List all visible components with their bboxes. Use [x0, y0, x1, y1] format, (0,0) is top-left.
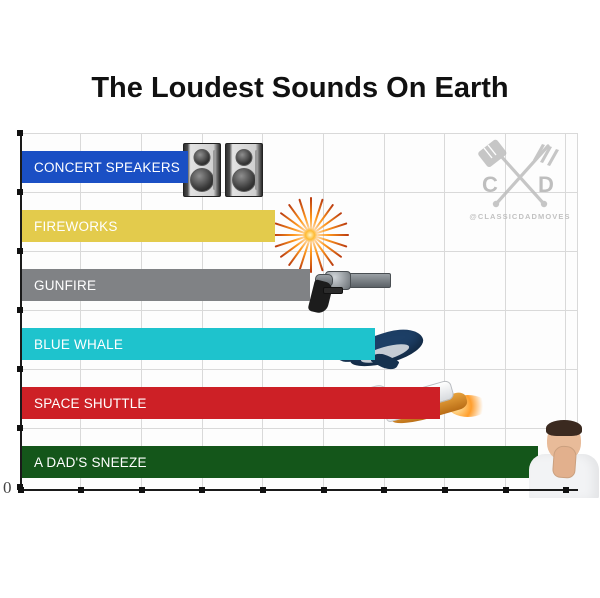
bar-label-blue-whale: BLUE WHALE: [20, 337, 123, 352]
x-axis-origin-label: 0: [3, 478, 12, 498]
x-axis: [20, 489, 578, 491]
x-axis-tick-7: [442, 487, 448, 493]
spatula-fork-crossed-icon: [460, 138, 580, 212]
chart-page: The Loudest Sounds On Earth: [0, 0, 600, 598]
x-axis-tick-3: [199, 487, 205, 493]
bar-space-shuttle[interactable]: SPACE SHUTTLE: [20, 387, 440, 419]
sneezing-man-icon: [527, 418, 600, 498]
x-axis-tick-5: [321, 487, 327, 493]
x-axis-tick-4: [260, 487, 266, 493]
bar-label-concert-speakers: CONCERT SPEAKERS: [20, 160, 180, 175]
bar-fireworks[interactable]: FIREWORKS: [20, 210, 275, 242]
bar-label-fireworks: FIREWORKS: [20, 219, 118, 234]
x-axis-tick-9: [563, 487, 569, 493]
plot-top-border: [20, 133, 578, 134]
bar-blue-whale[interactable]: BLUE WHALE: [20, 328, 375, 360]
bar-dads-sneeze[interactable]: A DAD'S SNEEZE: [20, 446, 538, 478]
y-axis-tick-2: [17, 248, 23, 254]
y-axis-tick-0: [17, 130, 23, 136]
gridline-h-4: [20, 369, 578, 370]
bar-label-dads-sneeze: A DAD'S SNEEZE: [20, 455, 147, 470]
y-axis-tick-4: [17, 366, 23, 372]
concert-speakers-icon: [183, 141, 265, 197]
gridline-h-5: [20, 428, 578, 429]
bar-label-gunfire: GUNFIRE: [20, 278, 96, 293]
x-axis-tick-1: [78, 487, 84, 493]
firework-icon: [268, 193, 352, 277]
x-axis-tick-2: [139, 487, 145, 493]
bar-label-space-shuttle: SPACE SHUTTLE: [20, 396, 147, 411]
gridline-h-2: [20, 251, 578, 252]
x-axis-tick-0: [18, 487, 24, 493]
y-axis-tick-5: [17, 425, 23, 431]
x-axis-tick-6: [381, 487, 387, 493]
y-axis-tick-1: [17, 189, 23, 195]
bar-gunfire[interactable]: GUNFIRE: [20, 269, 310, 301]
watermark-monogram-d: D: [538, 172, 554, 198]
y-axis-tick-3: [17, 307, 23, 313]
x-axis-tick-8: [503, 487, 509, 493]
watermark-logo: C D @CLASSICDADMOVES: [460, 138, 580, 226]
bar-concert-speakers[interactable]: CONCERT SPEAKERS: [20, 151, 188, 183]
gridline-h-3: [20, 310, 578, 311]
page-title: The Loudest Sounds On Earth: [0, 72, 600, 105]
watermark-monogram-c: C: [482, 172, 498, 198]
watermark-handle: @CLASSICDADMOVES: [460, 212, 580, 221]
